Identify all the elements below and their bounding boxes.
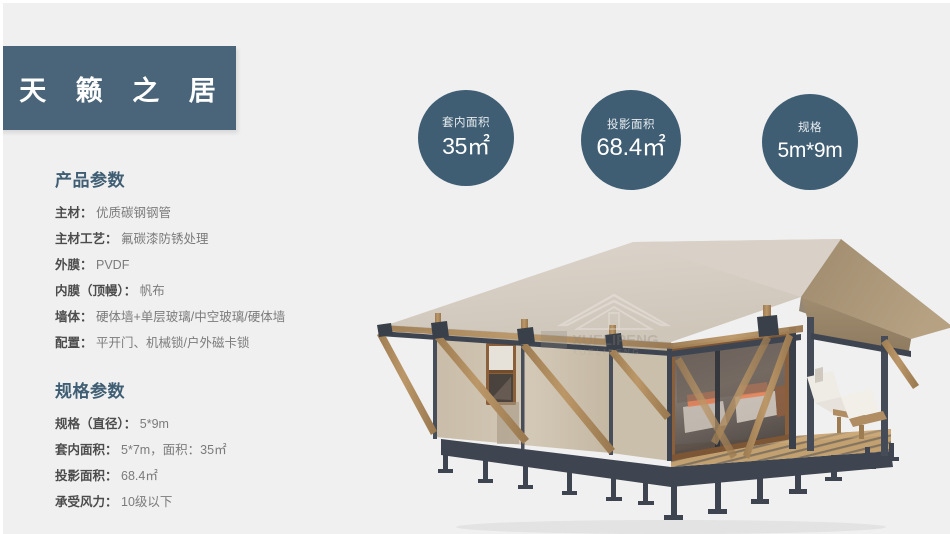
- steel-joint-1: [377, 323, 393, 337]
- stat-value: 5m*9m: [777, 140, 842, 161]
- stat-caption: 套内面积: [442, 118, 490, 130]
- spec-label: 套内面积：: [55, 443, 118, 457]
- spec-value: 硬体墙+单层玻璃/中空玻璃/硬体墙: [96, 310, 285, 324]
- lounger-1-leg: [837, 417, 841, 433]
- section-spacer: [55, 362, 375, 377]
- tent-render-illustration: [371, 239, 950, 534]
- spec-row: 配置： 平开门、机械锁/户外磁卡锁: [55, 330, 375, 356]
- spec-value: 优质碳钢钢管: [96, 206, 171, 220]
- spec-row: 墙体： 硬体墙+单层玻璃/中空玻璃/硬体墙: [55, 304, 375, 330]
- spec-label: 规格（直径）：: [55, 417, 136, 431]
- outdoor-lounger-group: [807, 367, 887, 439]
- stat-circle-dimensions: 规格 5m*9m: [762, 94, 858, 190]
- ground-shadow: [456, 520, 886, 534]
- spec-label: 墙体：: [55, 310, 93, 324]
- page-title: 天 籁 之 居: [8, 69, 227, 108]
- steel-joint-2: [431, 321, 449, 339]
- spec-label: 配置：: [55, 336, 93, 350]
- steel-joint-4: [605, 333, 623, 351]
- window-upper-pane: [489, 346, 513, 372]
- steel-column-wall-4: [667, 347, 672, 461]
- stat-caption: 规格: [798, 123, 822, 135]
- spec-row: 规格（直径）： 5*9m: [55, 411, 375, 437]
- spec-value: 5*9m: [140, 417, 169, 431]
- spec-value: 帆布: [140, 284, 165, 298]
- stat-circle-interior-area: 套内面积 35㎡: [418, 90, 514, 186]
- spec-value: 10级以下: [121, 495, 172, 509]
- stat-value: 35㎡: [442, 135, 490, 158]
- spec-params-list: 规格（直径）： 5*9m 套内面积： 5*7m，面积：35㎡ 投影面积： 68.…: [55, 411, 375, 515]
- steel-joint-3: [517, 327, 535, 345]
- specification-column: 产品参数 主材： 优质碳钢钢管 主材工艺： 氟碳漆防锈处理 外膜： PVDF 内…: [55, 166, 375, 521]
- spec-value: PVDF: [96, 258, 129, 272]
- product-params-heading: 产品参数: [55, 166, 375, 191]
- spec-value: 68.4㎡: [121, 469, 158, 483]
- lounger-armrest: [815, 367, 823, 383]
- spec-row: 套内面积： 5*7m，面积：35㎡: [55, 437, 375, 463]
- window-mullion: [489, 370, 513, 373]
- stat-caption: 投影面积: [607, 120, 655, 132]
- spec-params-heading: 规格参数: [55, 377, 375, 402]
- spec-value: 氟碳漆防锈处理: [121, 232, 209, 246]
- spec-row: 承受风力： 10级以下: [55, 489, 375, 515]
- spec-label: 外膜：: [55, 258, 93, 272]
- wood-brace-1: [377, 331, 437, 435]
- steel-column-wall-3: [609, 343, 613, 455]
- spec-row: 投影面积： 68.4㎡: [55, 463, 375, 489]
- spec-label: 投影面积：: [55, 469, 118, 483]
- steel-column-wall-1: [433, 331, 437, 439]
- stat-circle-projected-area: 投影面积 68.4㎡: [581, 90, 681, 190]
- spec-label: 承受风力：: [55, 495, 118, 509]
- spec-label: 内膜（顶幔）：: [55, 284, 136, 298]
- steel-joint-5: [757, 315, 779, 337]
- spec-label: 主材：: [55, 206, 93, 220]
- product-params-list: 主材： 优质碳钢钢管 主材工艺： 氟碳漆防锈处理 外膜： PVDF 内膜（顶幔）…: [55, 200, 375, 356]
- spec-label: 主材工艺：: [55, 232, 118, 246]
- spec-value: 5*7m，面积：35㎡: [121, 443, 227, 457]
- slide-canvas: 天 籁 之 居 产品参数 主材： 优质碳钢钢管 主材工艺： 氟碳漆防锈处理 外膜…: [0, 0, 950, 534]
- lounger-2-leg: [859, 425, 864, 439]
- spec-row: 外膜： PVDF: [55, 252, 375, 278]
- title-banner: 天 籁 之 居: [0, 46, 236, 130]
- steel-column-gable-right: [881, 336, 888, 456]
- stat-value: 68.4㎡: [596, 136, 665, 160]
- spec-row: 内膜（顶幔）： 帆布: [55, 278, 375, 304]
- spec-row: 主材工艺： 氟碳漆防锈处理: [55, 226, 375, 252]
- steel-column-corner: [789, 327, 796, 449]
- spec-row: 主材： 优质碳钢钢管: [55, 200, 375, 226]
- spec-value: 平开门、机械锁/户外磁卡锁: [96, 336, 249, 350]
